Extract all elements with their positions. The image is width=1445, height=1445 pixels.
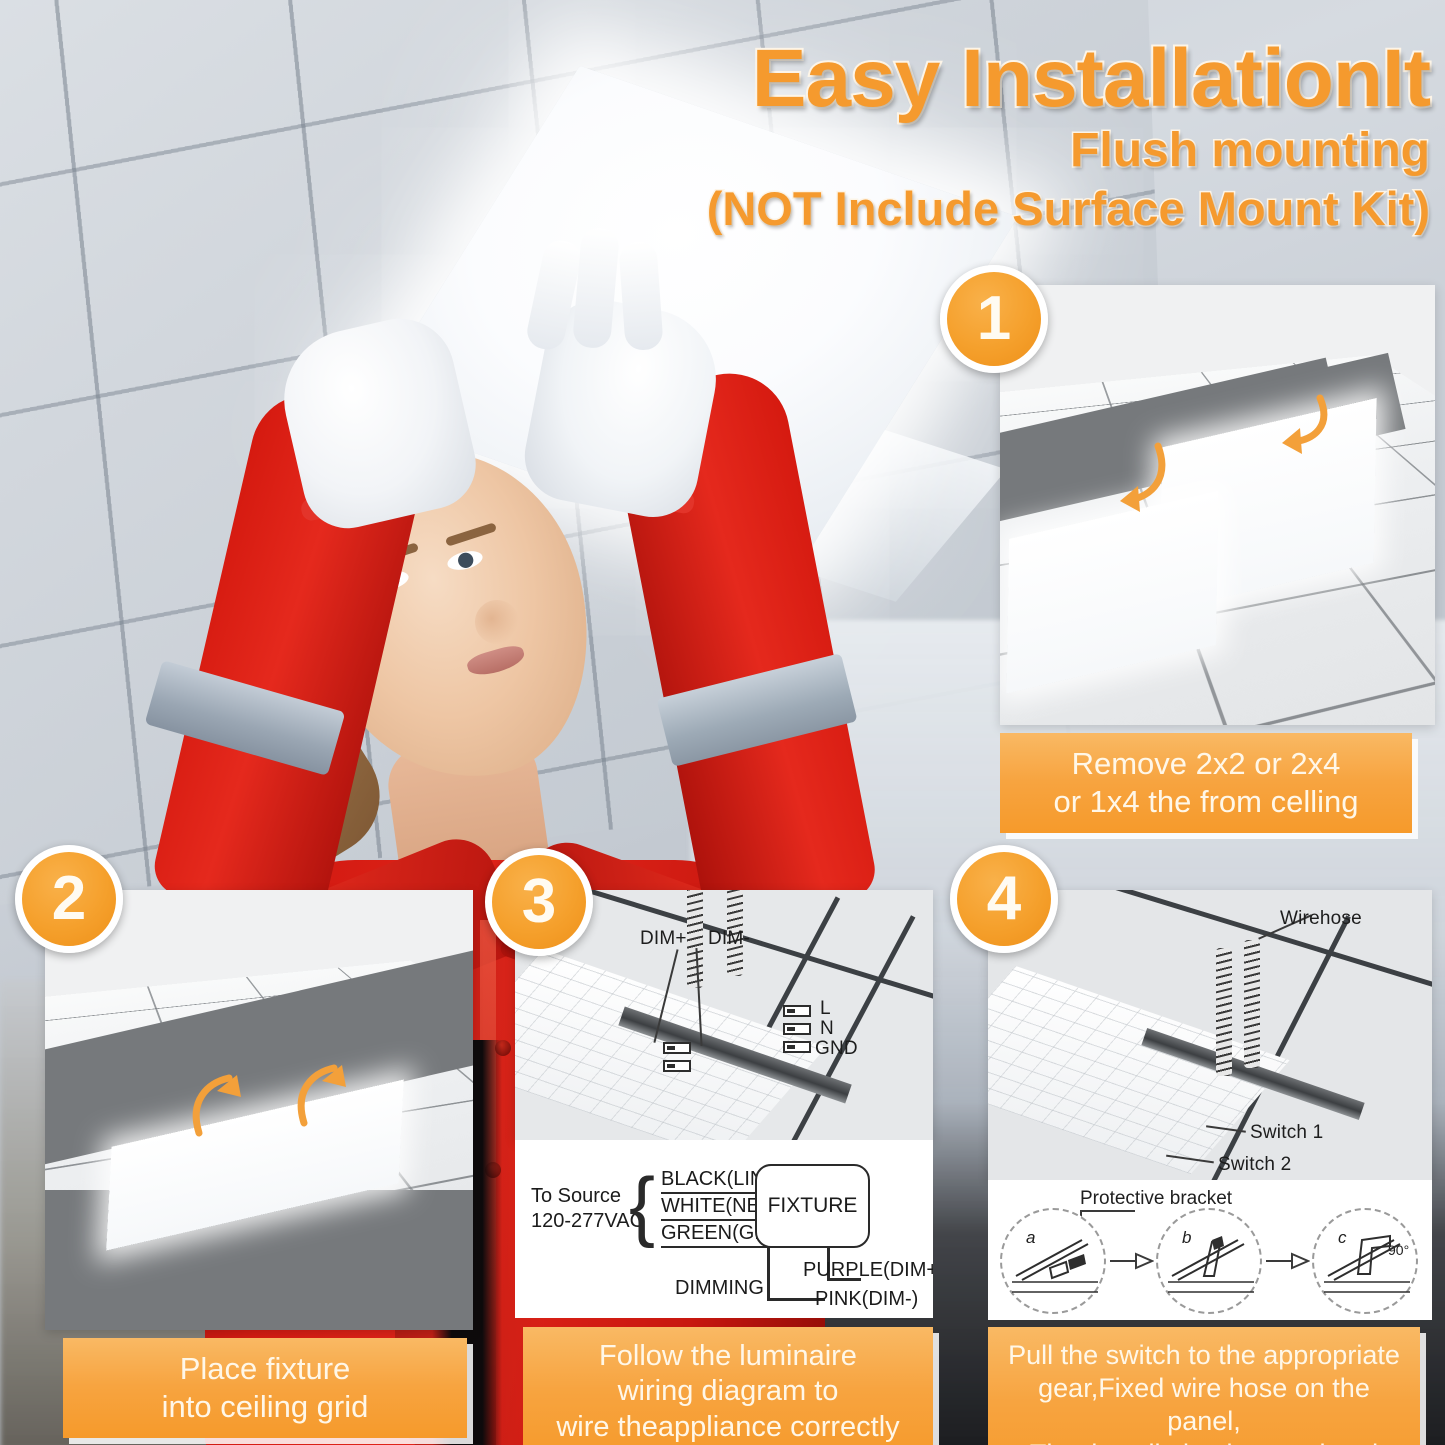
step-badge-1: 1	[940, 265, 1048, 373]
step-4-caption-line-2: gear,Fixed wire hose on the panel,	[998, 1372, 1410, 1438]
wire-purple-label: PURPLE(DIM+)	[803, 1259, 933, 1282]
label-gnd: GND	[815, 1038, 858, 1060]
step-badge-2: 2	[15, 845, 123, 953]
wire-pink-label: PINK(DIM-)	[815, 1288, 918, 1311]
bracket-glyph-c-icon	[1324, 1224, 1410, 1302]
label-switch2: Switch 2	[1218, 1154, 1291, 1176]
subtitle-not-include-kit: (NOT Include Surface Mount Kit)	[560, 184, 1430, 233]
wiring-source-line-2: 120-277VAC	[531, 1209, 644, 1234]
step-card-4: Wirehose Switch 1 Switch 2 Protective br…	[988, 890, 1434, 1445]
terminal-n	[783, 1023, 811, 1035]
step-badge-4: 4	[950, 845, 1058, 953]
step-4-caption-line-1: Pull the switch to the appropriate	[998, 1339, 1410, 1372]
step-4-caption-line-3: Theninstallation is completed	[998, 1438, 1410, 1445]
up-arrow-right-icon	[290, 1035, 360, 1130]
bracket-glyph-a-icon	[1012, 1224, 1098, 1302]
label-dim-minus: DIM-	[708, 928, 750, 950]
up-arrow-left-icon	[185, 1045, 255, 1140]
label-switch1: Switch 1	[1250, 1122, 1323, 1144]
step-1-caption-line-2: or 1x4 the from celling	[1010, 783, 1402, 821]
label-l: L	[820, 998, 831, 1020]
step-1-image	[1000, 285, 1435, 725]
step-card-1: 1 Remove 2x2 or 2x4 or 1x4 the from cell…	[995, 285, 1435, 840]
header-block: Easy InstallationIt Flush mounting (NOT …	[560, 38, 1430, 234]
bracket-arrow-1-icon	[1110, 1252, 1154, 1270]
step-card-3: DIM+ DIM- L N GND To Source 120-277VAC {…	[515, 890, 935, 1445]
infographic-stage: Easy InstallationIt Flush mounting (NOT …	[0, 0, 1445, 1445]
step-2-image	[45, 890, 473, 1330]
leader-protective-bracket	[1080, 1210, 1135, 1212]
label-n: N	[820, 1018, 834, 1040]
step-3-caption-line-1: Follow the luminaire	[533, 1339, 923, 1374]
page-title: Easy InstallationIt	[560, 38, 1430, 120]
wiring-diagram-box: To Source 120-277VAC { BLACK(LINE) WHITE…	[515, 1140, 933, 1318]
step-3-caption-line-2: wiring diagram to	[533, 1374, 923, 1409]
subtitle-flush-mounting: Flush mounting	[560, 126, 1430, 176]
fixture-label: FIXTURE	[768, 1194, 858, 1218]
bracket-glyph-b-icon	[1168, 1224, 1254, 1302]
label-wirehose: Wirehose	[1280, 908, 1362, 930]
step-2-caption-line-1: Place fixture	[73, 1350, 457, 1388]
step-2-caption: Place fixture into ceiling grid	[63, 1338, 467, 1438]
down-arrow-left-icon	[1100, 438, 1170, 528]
fixture-box: FIXTURE	[755, 1164, 870, 1248]
dimming-label: DIMMING	[675, 1277, 764, 1300]
terminal-gnd	[783, 1041, 811, 1053]
protective-bracket-box: Protective bracket a b c 90°	[988, 1180, 1432, 1320]
step-1-caption-line-1: Remove 2x2 or 2x4	[1010, 745, 1402, 783]
step-4-caption: Pull the switch to the appropriate gear,…	[988, 1327, 1420, 1445]
down-arrow-right-icon	[1262, 390, 1332, 470]
worker-finger-3	[618, 241, 663, 351]
step-card-2: 2 Place fixture into ceiling grid	[45, 890, 475, 1435]
wiring-source-label: To Source 120-277VAC	[531, 1184, 644, 1234]
step-3-caption-line-3: wire theappliance correctly	[533, 1410, 923, 1445]
bracket-arrow-2-icon	[1266, 1252, 1310, 1270]
step-badge-3: 3	[485, 848, 593, 956]
label-dim-plus: DIM+	[640, 928, 687, 950]
step-1-caption: Remove 2x2 or 2x4 or 1x4 the from cellin…	[1000, 733, 1412, 833]
step-2-caption-line-2: into ceiling grid	[73, 1388, 457, 1426]
terminal-dim-plus	[663, 1042, 691, 1054]
wire-hose-1	[1216, 948, 1232, 1076]
wiring-brace: {	[629, 1166, 655, 1244]
wiring-source-line-1: To Source	[531, 1184, 644, 1209]
label-protective-bracket: Protective bracket	[1080, 1188, 1232, 1210]
wire-hose-2	[1244, 940, 1260, 1068]
step-3-caption: Follow the luminaire wiring diagram to w…	[523, 1327, 933, 1445]
terminal-l	[783, 1005, 811, 1017]
dim-minus-vertical	[767, 1248, 770, 1300]
terminal-dim-minus	[663, 1060, 691, 1072]
wire-hose-left	[687, 890, 703, 988]
step-4-image: Wirehose Switch 1 Switch 2	[988, 890, 1432, 1180]
